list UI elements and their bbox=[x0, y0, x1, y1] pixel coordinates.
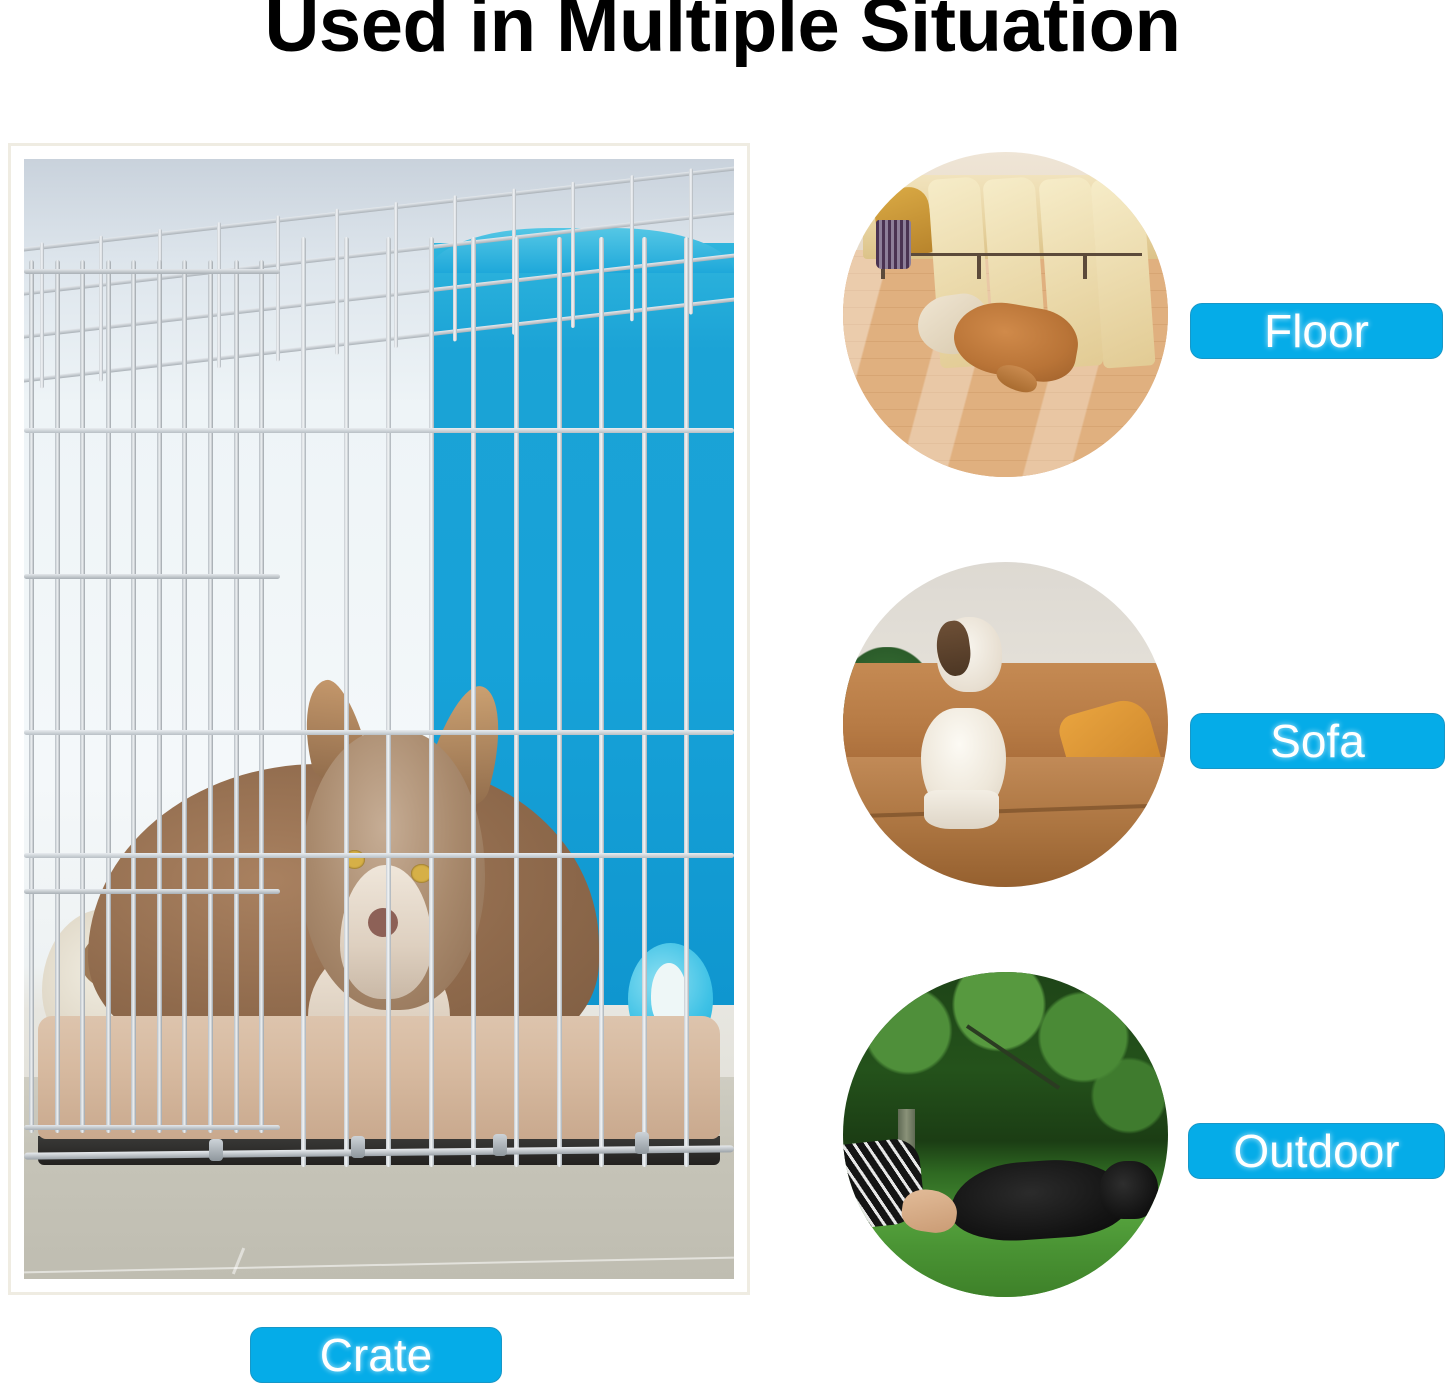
sofa-scene bbox=[843, 562, 1168, 887]
striped-vase bbox=[876, 220, 912, 269]
situation-photo-sofa bbox=[843, 562, 1168, 887]
label-floor[interactable]: Floor bbox=[1190, 303, 1443, 359]
label-outdoor[interactable]: Outdoor bbox=[1188, 1123, 1445, 1179]
label-sofa[interactable]: Sofa bbox=[1190, 713, 1445, 769]
dog-eye-left bbox=[344, 850, 365, 869]
main-photo-frame bbox=[8, 143, 750, 1295]
crate-photo bbox=[24, 159, 734, 1279]
situation-photo-floor bbox=[843, 152, 1168, 477]
label-crate[interactable]: Crate bbox=[250, 1327, 502, 1383]
floor-grout-line bbox=[232, 1247, 245, 1274]
situation-photo-outdoor bbox=[843, 972, 1168, 1297]
dog-legs bbox=[924, 790, 999, 829]
sofa-frame bbox=[876, 253, 1143, 279]
plush-crate-bed bbox=[38, 1016, 720, 1139]
black-dog-head bbox=[1100, 1161, 1159, 1220]
dog-eye-right bbox=[411, 864, 432, 883]
outdoor-scene bbox=[843, 972, 1168, 1297]
leather-sofa-seat bbox=[843, 757, 1168, 887]
crate-tray bbox=[38, 1136, 720, 1165]
floor-grout-line bbox=[24, 1256, 734, 1273]
page-title: Used in Multiple Situation bbox=[0, 0, 1445, 64]
floor-scene bbox=[843, 152, 1168, 477]
